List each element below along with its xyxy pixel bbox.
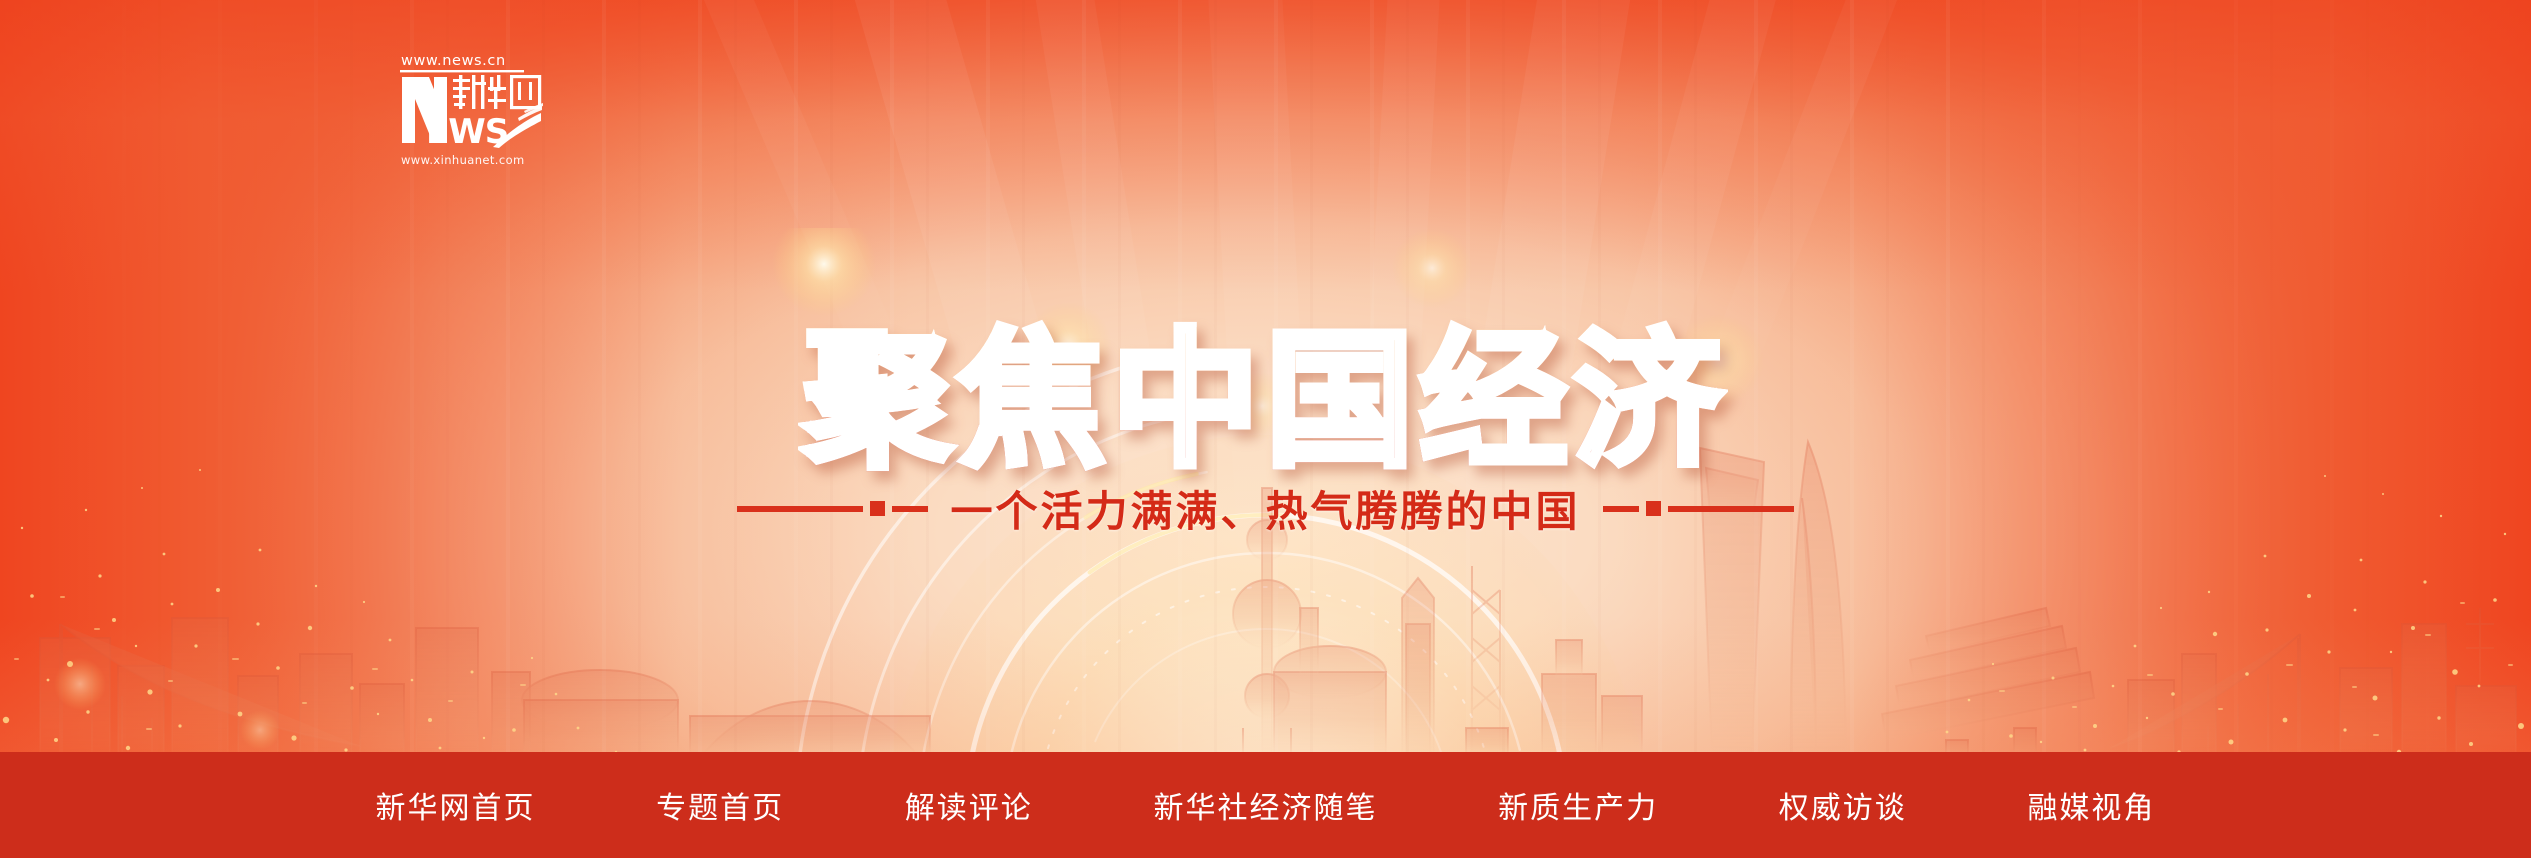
- nav-item-media-view[interactable]: 融媒视角: [2017, 775, 2165, 835]
- deco-dash-right: [1603, 506, 1639, 512]
- logo-bottom-url: www.xinhuanet.com: [401, 153, 525, 167]
- deco-dash-left: [892, 506, 928, 512]
- deco-bar-right: [1668, 506, 1794, 512]
- nav-item-xinhuanet-home[interactable]: 新华网首页: [366, 775, 546, 835]
- page-subtitle: 一个活力满满、热气腾腾的中国: [950, 478, 1580, 539]
- decoration-line-right: [1603, 501, 1794, 516]
- deco-bar-left: [737, 506, 863, 512]
- hero-subtitle-row: 一个活力满满、热气腾腾的中国: [0, 478, 2531, 539]
- xinhuanet-logo[interactable]: www.news.cn: [398, 51, 548, 169]
- nav-items-container: 新华网首页 专题首页 解读评论 新华社经济随笔 新质生产力 权威访谈 融媒视角: [366, 775, 2166, 835]
- deco-dot-right: [1646, 501, 1661, 516]
- nav-item-interpretation[interactable]: 解读评论: [895, 775, 1043, 835]
- logo-top-url: www.news.cn: [401, 53, 506, 69]
- nav-item-topic-home[interactable]: 专题首页: [646, 775, 794, 835]
- page-title: 聚焦中国经济: [804, 327, 1728, 475]
- xinhuanet-logo-icon: www.news.cn: [398, 51, 548, 169]
- deco-dot-left: [870, 501, 885, 516]
- main-navigation-bar: 新华网首页 专题首页 解读评论 新华社经济随笔 新质生产力 权威访谈 融媒视角: [0, 752, 2531, 858]
- nav-item-interviews[interactable]: 权威访谈: [1769, 775, 1917, 835]
- nav-item-economy-notes[interactable]: 新华社经济随笔: [1143, 775, 1387, 835]
- decoration-line-left: [737, 501, 928, 516]
- xinhua-economy-banner: www.news.cn: [0, 0, 2531, 858]
- nav-item-new-productivity[interactable]: 新质生产力: [1488, 775, 1668, 835]
